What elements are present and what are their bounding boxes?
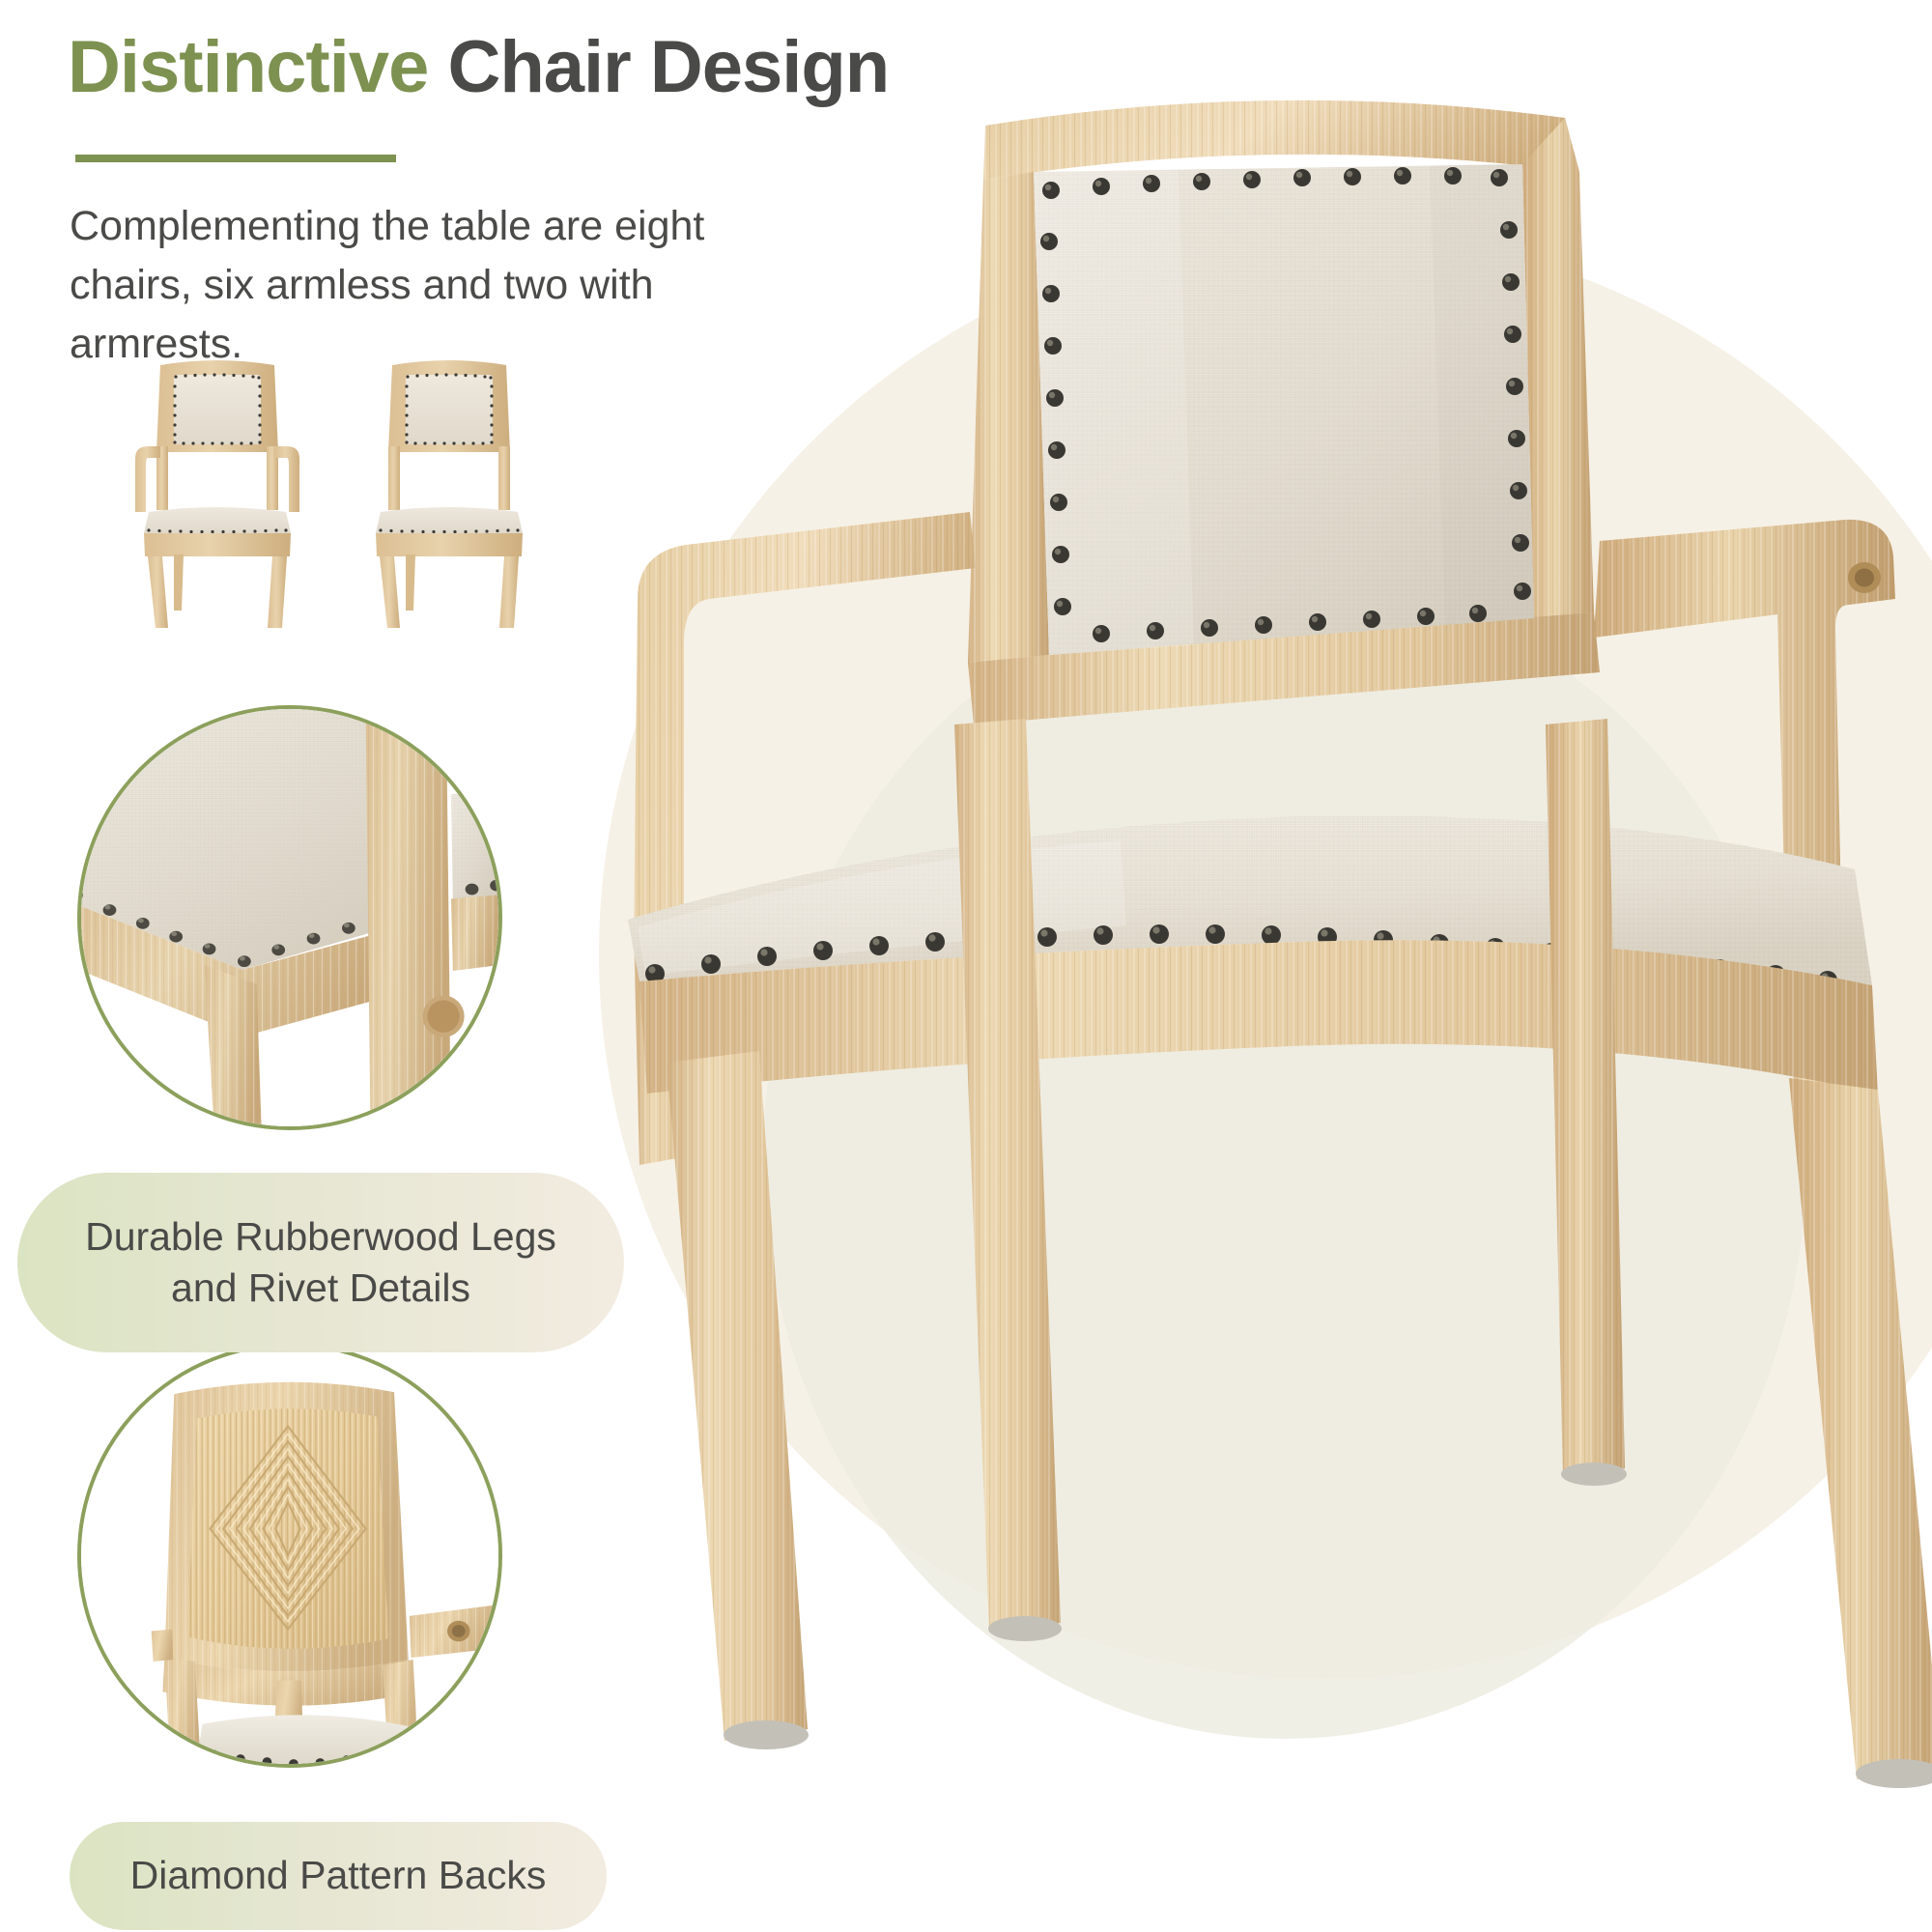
chair-thumbnail-row <box>116 338 580 628</box>
legs-and-rivets-detail <box>77 705 502 1130</box>
diamond-pattern-back-detail <box>77 1343 502 1768</box>
page-title-accent: Distinctive <box>68 26 428 108</box>
page-title: Distinctive Chair Design <box>68 25 889 109</box>
legs-detail-caption-pill: Durable Rubberwood Legs and Rivet Detail… <box>17 1173 624 1352</box>
armless-chair-thumbnail <box>348 338 551 628</box>
diamond-back-caption-pill: Diamond Pattern Backs <box>70 1822 607 1930</box>
armchair-thumbnail <box>116 338 319 628</box>
title-underline-rule <box>75 155 396 162</box>
page-title-rest: Chair Design <box>428 26 889 108</box>
